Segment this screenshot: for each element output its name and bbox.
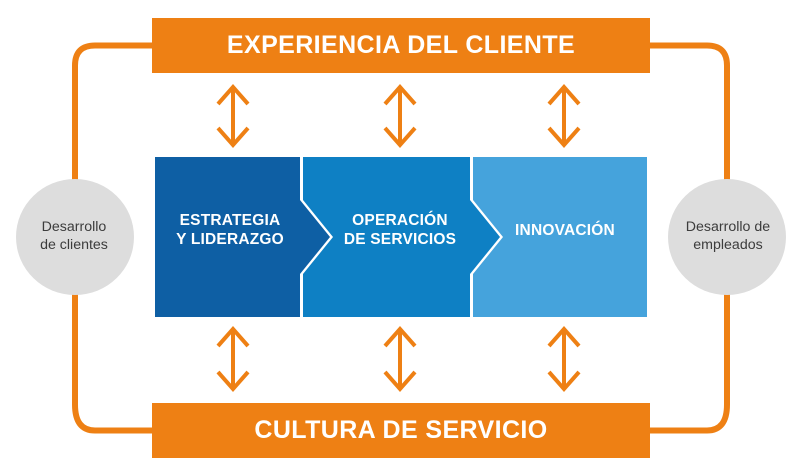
band-bottom-label: CULTURA DE SERVICIO: [254, 418, 547, 443]
block-label-estrategia: ESTRATEGIA Y LIDERAZGO: [160, 212, 300, 250]
band-top-label: EXPERIENCIA DEL CLIENTE: [227, 33, 575, 58]
diagram-canvas: EXPERIENCIA DEL CLIENTE CULTURA DE SERVI…: [0, 0, 800, 470]
circle-label-desarrollo-empleados: Desarrollo de empleados: [668, 218, 788, 255]
circle-label-desarrollo-clientes: Desarrollo de clientes: [18, 218, 130, 255]
band-cultura-de-servicio[interactable]: CULTURA DE SERVICIO: [152, 403, 650, 458]
band-experiencia-del-cliente[interactable]: EXPERIENCIA DEL CLIENTE: [152, 18, 650, 73]
block-label-innovacion: INNOVACIÓN: [495, 222, 635, 241]
block-label-operacion: OPERACIÓN DE SERVICIOS: [330, 212, 470, 250]
